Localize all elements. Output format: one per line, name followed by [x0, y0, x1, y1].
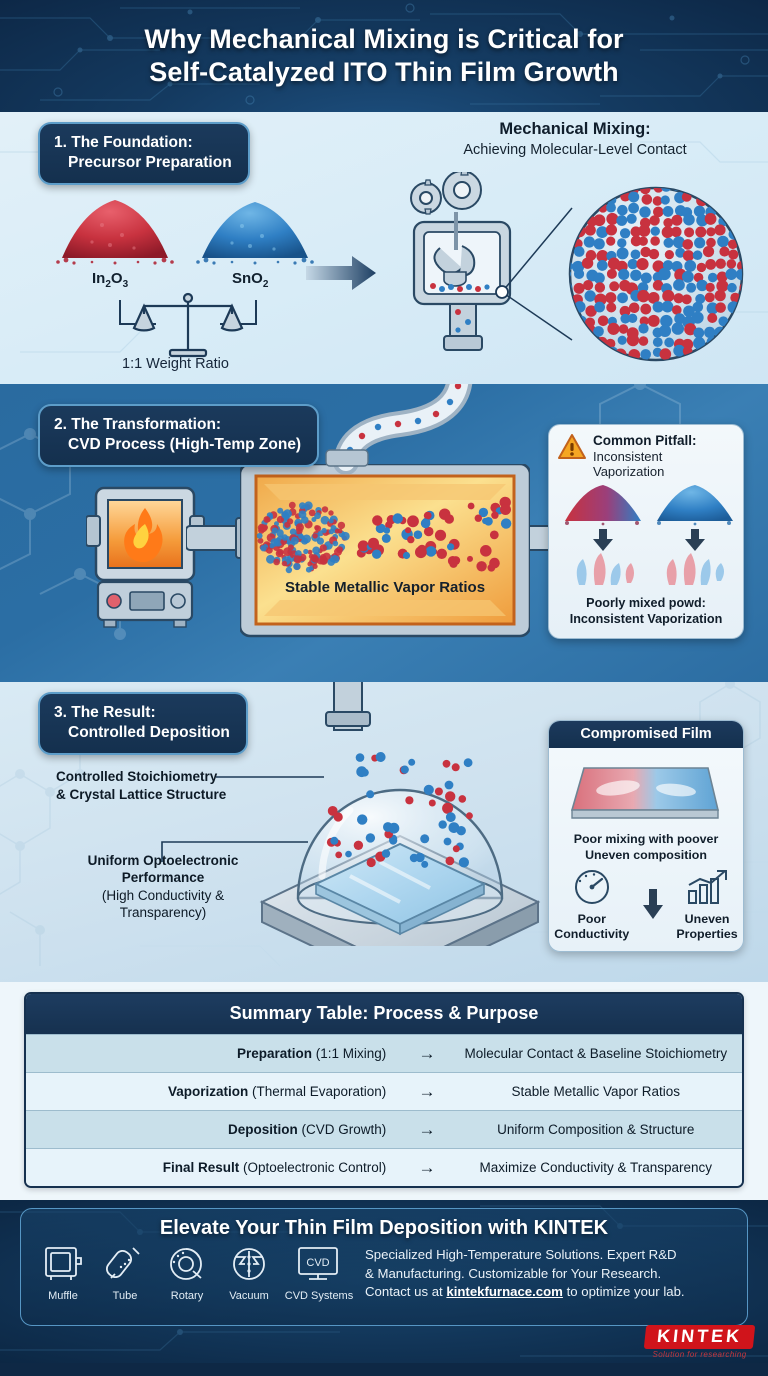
stage-name: Final Result: [163, 1160, 240, 1175]
step-badge-3: 3. The Result: Controlled Deposition: [38, 692, 248, 755]
table-row: Vaporization (Thermal Evaporation)→Stabl…: [26, 1072, 742, 1110]
product-icon-row: MuffleTubeRotaryVacuumCVDCVD Systems: [35, 1244, 355, 1302]
table-row: Final Result (Optoelectronic Control)→Ma…: [26, 1148, 742, 1186]
deposition-chamber-illustration: [250, 726, 550, 946]
cvd-chamber-illustration: Stable Metallic Vapor Ratios: [240, 464, 530, 644]
stage-detail: (CVD Growth): [298, 1122, 387, 1137]
callout1-line2: & Crystal Lattice Structure: [56, 787, 226, 802]
title-line-2: Self-Catalyzed ITO Thin Film Growth: [149, 57, 619, 87]
outcome1-line1: Poor: [578, 912, 606, 926]
callout1-line1: Controlled Stoichiometry: [56, 769, 217, 784]
in2o3-el1: In: [92, 270, 105, 287]
magnified-mixture-view: [490, 174, 758, 374]
cta-line2: & Manufacturing. Customizable for Your R…: [365, 1266, 661, 1281]
vacuum-furnace-icon: [227, 1271, 271, 1288]
cta-line3-pre: Contact us at: [365, 1284, 446, 1299]
page-title: Why Mechanical Mixing is Critical for Se…: [144, 23, 623, 89]
powder-label-in2o3: In2O3: [92, 270, 128, 290]
powder-label-sno2: SnO2: [232, 270, 268, 290]
kintek-logo: KINTEK Solution for researching: [645, 1325, 754, 1359]
kintek-logo-tagline: Solution for researching: [645, 1350, 754, 1359]
pitfall-line3: Vaporization: [593, 464, 697, 479]
poorly-mixed-powder-diagram: [559, 481, 739, 589]
pitfall-footer-line2: Inconsistent Vaporization: [570, 612, 723, 626]
outcome1-line2: Conductivity: [554, 927, 629, 941]
compro-caption-line2: Uneven composition: [585, 848, 707, 862]
product-item-cvd-systems[interactable]: CVDCVD Systems: [283, 1244, 355, 1302]
header-banner: Why Mechanical Mixing is Critical for Se…: [0, 0, 768, 112]
chamber-label: Stable Metallic Vapor Ratios: [285, 579, 485, 596]
summary-table: Summary Table: Process & Purpose Prepara…: [24, 992, 744, 1188]
compromised-film-title: Compromised Film: [549, 721, 743, 748]
title-line-1: Why Mechanical Mixing is Critical for: [144, 24, 623, 54]
in2o3-el2: O: [111, 270, 123, 287]
outcome-uneven-properties: Uneven Properties: [676, 867, 737, 942]
kintek-website-link[interactable]: kintekfurnace.com: [446, 1284, 563, 1299]
pitfall-line2: Inconsistent: [593, 449, 697, 464]
callout2-line4: Transparency): [120, 905, 207, 920]
compromised-outcomes: Poor Conductivity: [549, 867, 743, 942]
outcome2-line2: Properties: [676, 927, 737, 941]
gauge-icon: [569, 867, 615, 907]
table-cell-stage: Deposition (CVD Growth): [26, 1122, 398, 1137]
step-3-line1: 3. The Result:: [54, 704, 156, 721]
stage-detail: (1:1 Mixing): [312, 1046, 386, 1061]
stage-name: Deposition: [228, 1122, 298, 1137]
product-label: Vacuum: [221, 1290, 277, 1302]
kintek-logo-text: KINTEK: [644, 1325, 756, 1349]
pitfall-header: Common Pitfall: Inconsistent Vaporizatio…: [557, 433, 735, 479]
cta-line1: Specialized High-Temperature Solutions. …: [365, 1247, 677, 1262]
stage-name: Vaporization: [168, 1084, 248, 1099]
step-2-line1: 2. The Transformation:: [54, 416, 221, 433]
outcome-poor-conductivity: Poor Conductivity: [554, 867, 629, 942]
product-label: Tube: [97, 1290, 153, 1302]
table-arrow-icon: →: [398, 1120, 455, 1140]
product-item-tube[interactable]: Tube: [97, 1244, 153, 1302]
pitfall-title: Common Pitfall:: [593, 433, 697, 449]
product-label: CVD Systems: [283, 1290, 355, 1302]
mixing-subtitle: Achieving Molecular-Level Contact: [395, 142, 755, 158]
outcome2-line1: Uneven: [685, 912, 730, 926]
table-arrow-icon: →: [398, 1158, 455, 1178]
callout-stoichiometry: Controlled Stoichiometry & Crystal Latti…: [56, 768, 226, 803]
down-arrow-icon: [640, 887, 666, 923]
step-badge-1: 1. The Foundation: Precursor Preparation: [38, 122, 250, 185]
step-2-line2: CVD Process (High-Temp Zone): [54, 435, 301, 455]
section-precursor-preparation: 1. The Foundation: Precursor Preparation: [0, 112, 768, 384]
step-3-line2: Controlled Deposition: [54, 723, 230, 743]
weight-ratio-label: 1:1 Weight Ratio: [122, 356, 229, 372]
mixing-title: Mechanical Mixing:: [400, 120, 750, 139]
table-cell-purpose: Maximize Conductivity & Transparency: [456, 1160, 742, 1175]
infographic-page: Why Mechanical Mixing is Critical for Se…: [0, 0, 768, 1376]
callout2-line3: (High Conductivity &: [102, 888, 224, 903]
product-item-vacuum[interactable]: Vacuum: [221, 1244, 277, 1302]
pitfall-footer: Poorly mixed powd: Inconsistent Vaporiza…: [557, 596, 735, 627]
warning-triangle-icon: [557, 433, 587, 461]
uneven-film-illustration: [558, 752, 734, 832]
table-arrow-icon: →: [398, 1044, 455, 1064]
cta-description: Specialized High-Temperature Solutions. …: [365, 1244, 685, 1302]
step-1-line1: 1. The Foundation:: [54, 134, 193, 151]
stage-detail: (Thermal Evaporation): [248, 1084, 386, 1099]
product-item-muffle[interactable]: Muffle: [35, 1244, 91, 1302]
compro-caption-line1: Poor mixing with poover: [574, 832, 719, 846]
table-cell-purpose: Stable Metallic Vapor Ratios: [456, 1084, 742, 1099]
cta-body: MuffleTubeRotaryVacuumCVDCVD Systems Spe…: [35, 1244, 733, 1302]
step-1-line2: Precursor Preparation: [54, 153, 232, 173]
cta-box: Elevate Your Thin Film Deposition with K…: [20, 1208, 748, 1326]
outcome2-label: Uneven Properties: [676, 912, 737, 942]
cvd-system-icon: CVD: [293, 1271, 345, 1288]
compromised-film-caption: Poor mixing with poover Uneven compositi…: [549, 832, 743, 863]
indium-oxide-powder-pile: [52, 190, 182, 268]
section-controlled-deposition: 3. The Result: Controlled Deposition Con…: [0, 682, 768, 982]
table-row: Deposition (CVD Growth)→Uniform Composit…: [26, 1110, 742, 1148]
bar-chart-trend-icon: [683, 867, 731, 907]
common-pitfall-card: Common Pitfall: Inconsistent Vaporizatio…: [548, 424, 744, 639]
callout2-line2: Performance: [122, 870, 205, 885]
table-cell-stage: Vaporization (Thermal Evaporation): [26, 1084, 398, 1099]
stage-detail: (Optoelectronic Control): [239, 1160, 386, 1175]
cta-title: Elevate Your Thin Film Deposition with K…: [35, 1217, 733, 1240]
summary-table-body: Preparation (1:1 Mixing)→Molecular Conta…: [26, 1034, 742, 1186]
muffle-furnace-icon: [41, 1271, 85, 1288]
summary-table-title: Summary Table: Process & Purpose: [26, 994, 742, 1034]
table-arrow-icon: →: [398, 1082, 455, 1102]
tin-oxide-powder-pile: [192, 194, 322, 268]
tube-furnace-icon: [103, 1271, 147, 1288]
balance-scale-icon: [108, 288, 268, 364]
summary-section: Summary Table: Process & Purpose Prepara…: [0, 982, 768, 1200]
cta-line3-post: to optimize your lab.: [563, 1284, 685, 1299]
sno2-el1: SnO: [232, 270, 263, 287]
rotary-furnace-icon: [165, 1271, 209, 1288]
stage-name: Preparation: [237, 1046, 312, 1061]
product-label: Muffle: [35, 1290, 91, 1302]
table-row: Preparation (1:1 Mixing)→Molecular Conta…: [26, 1034, 742, 1072]
table-cell-stage: Final Result (Optoelectronic Control): [26, 1160, 398, 1175]
flow-arrow-right-icon: [306, 256, 378, 292]
step-badge-2: 2. The Transformation: CVD Process (High…: [38, 404, 319, 467]
compromised-film-card: Compromised Film Poor mixing with poover…: [548, 720, 744, 952]
footer-cta: Elevate Your Thin Film Deposition with K…: [0, 1200, 768, 1363]
table-cell-purpose: Molecular Contact & Baseline Stoichiomet…: [456, 1046, 742, 1061]
svg-text:CVD: CVD: [306, 1257, 329, 1269]
table-cell-purpose: Uniform Composition & Structure: [456, 1122, 742, 1137]
table-cell-stage: Preparation (1:1 Mixing): [26, 1046, 398, 1061]
pitfall-footer-line1: Poorly mixed powd:: [586, 596, 706, 610]
outcome1-label: Poor Conductivity: [554, 912, 629, 942]
product-item-rotary[interactable]: Rotary: [159, 1244, 215, 1302]
product-label: Rotary: [159, 1290, 215, 1302]
section-cvd-process: 2. The Transformation: CVD Process (High…: [0, 384, 768, 682]
